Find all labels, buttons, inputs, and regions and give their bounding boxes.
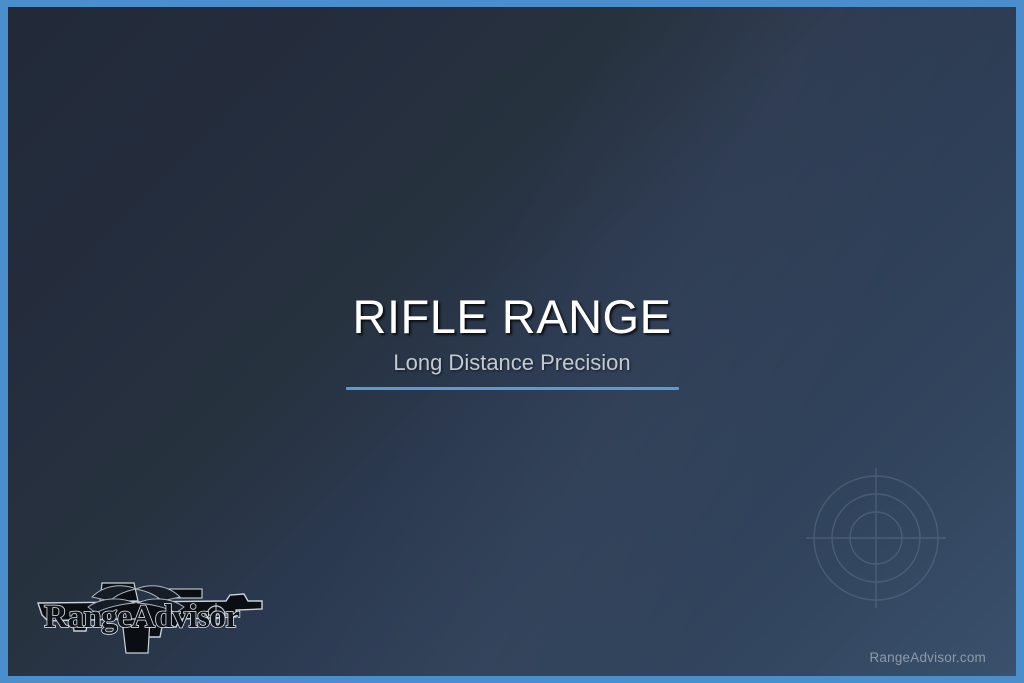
crosshair-target-icon [798, 460, 954, 616]
site-watermark: RangeAdvisor.com [869, 650, 986, 665]
slide-canvas: RIFLE RANGE Long Distance Precision [8, 7, 1016, 676]
slide-frame: RIFLE RANGE Long Distance Precision [0, 0, 1024, 683]
title-block: RIFLE RANGE Long Distance Precision [8, 291, 1016, 390]
page-subtitle: Long Distance Precision [8, 350, 1016, 376]
brand-logo-wordmark: RangeAdvisor [44, 599, 240, 635]
accent-divider [346, 387, 679, 390]
brand-logo: RangeAdvisor [30, 575, 270, 659]
page-title: RIFLE RANGE [8, 291, 1016, 343]
